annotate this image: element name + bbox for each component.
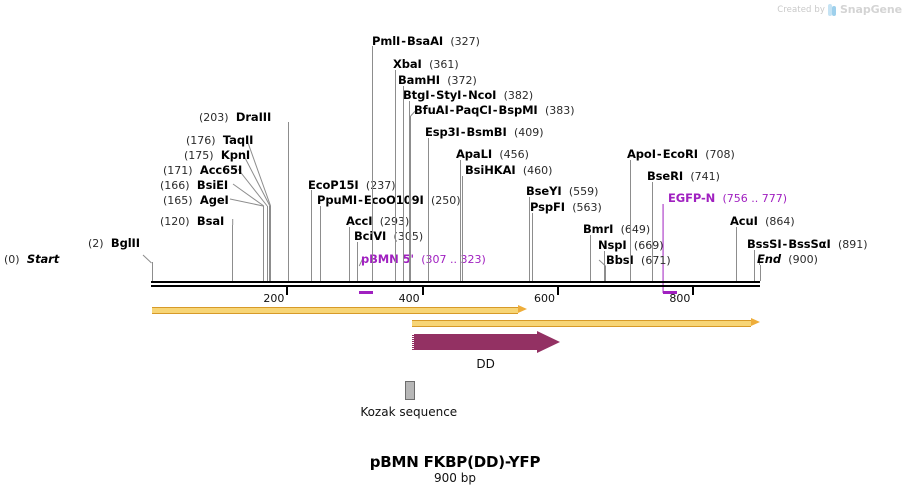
esp3i-bsmbi-label[interactable]: Esp3I-BsmBI (409) [425, 126, 544, 139]
site-position: (891) [838, 238, 868, 251]
dd-arrow-head [537, 331, 560, 353]
enzyme-name: TaqII [223, 133, 253, 147]
site-position: (669) [634, 239, 664, 252]
ruler-tick-label: 800 [669, 292, 692, 305]
dd-cds-arrow[interactable] [412, 331, 560, 353]
enzyme-name: DraIII [236, 110, 271, 124]
agei-label[interactable]: (165) AgeI [163, 194, 229, 207]
site-position: (176) [186, 134, 216, 147]
site-tick-mark [754, 250, 755, 281]
ruler-tick [692, 287, 694, 295]
site-position: (563) [572, 201, 602, 214]
site-position: (175) [184, 149, 214, 162]
taqii-label[interactable]: (176) TaqII [186, 134, 253, 147]
site-tick-mark [428, 138, 429, 281]
bbsi-label[interactable]: BbsI (671) [606, 254, 671, 267]
site-position: (165) [163, 194, 193, 207]
ruler-tick-label: 400 [399, 292, 422, 305]
leader-line-fan-2 [238, 169, 267, 206]
site-tick-mark [395, 70, 396, 281]
enzyme-separator: - [492, 103, 499, 117]
site-position: (171) [163, 164, 193, 177]
bsiei-label[interactable]: (166) BsiEI [160, 179, 228, 192]
site-tick-mark [267, 206, 268, 281]
acci-label[interactable]: AccI (293) [346, 215, 409, 228]
enzyme-name: BmrI [583, 222, 613, 236]
site-tick-mark [372, 46, 373, 281]
bseri-label[interactable]: BseRI (741) [647, 170, 720, 183]
end-label[interactable]: End (900) [757, 253, 818, 266]
enzyme-separator: - [357, 193, 364, 207]
primer-arrow-head [518, 305, 527, 313]
bfuai-paqci-bspmi-label[interactable]: BfuAI-PaqCI-BspMI (383) [414, 104, 575, 117]
site-tick-mark [311, 190, 312, 281]
site-tick-mark [462, 176, 463, 281]
acc65i-label[interactable]: (171) Acc65I [163, 164, 242, 177]
enzyme-name: BssSI [747, 237, 782, 251]
site-tick-mark [410, 116, 411, 281]
enzyme-name: BfuAI [414, 103, 449, 117]
enzyme-name: Acc65I [200, 163, 242, 177]
enzyme-name: BciVI [354, 229, 386, 243]
enzyme-name: EcoRI [663, 147, 698, 161]
site-position: (671) [641, 254, 671, 267]
bamhi-label[interactable]: BamHI (372) [398, 74, 477, 87]
enzyme-name: NspI [598, 238, 627, 252]
site-tick-mark [288, 122, 289, 281]
enzyme-separator: - [656, 147, 663, 161]
btgi-styi-ncoi-label[interactable]: BtgI-StyI-NcoI (382) [403, 89, 533, 102]
site-position: (409) [514, 126, 544, 139]
bseyi-label[interactable]: BseYI (559) [526, 185, 598, 198]
enzyme-name: BssSαI [788, 237, 830, 251]
site-position: (237) [366, 179, 396, 192]
primer-arrow-2[interactable] [412, 318, 760, 327]
enzyme-name: pBMN 5' [361, 252, 414, 266]
ruler-tick [557, 287, 559, 295]
site-position: (307 .. 323) [421, 253, 486, 266]
site-position: (361) [429, 58, 459, 71]
page-title: pBMN FKBP(DD)-YFP [255, 453, 655, 471]
sequence-ruler: 200400600800 [151, 287, 760, 305]
site-tick-mark [529, 197, 530, 281]
sequence-length-label: 900 bp [255, 471, 655, 485]
site-tick-mark [605, 266, 606, 281]
site-tick-mark [320, 206, 321, 281]
bsihkai-label[interactable]: BsiHKAI (460) [465, 164, 552, 177]
kozak-sequence-box[interactable] [405, 381, 415, 400]
site-tick-mark [652, 182, 653, 281]
acui-label[interactable]: AcuI (864) [730, 215, 795, 228]
xbai-label[interactable]: XbaI (361) [393, 58, 459, 71]
bmri-label[interactable]: BmrI (649) [583, 223, 650, 236]
enzyme-name: BtgI [403, 88, 429, 102]
site-position: (741) [690, 170, 720, 183]
ecop15i-label[interactable]: EcoP15I (237) [308, 179, 396, 192]
enzyme-name: AgeI [200, 193, 229, 207]
site-tick-mark [460, 160, 461, 281]
site-position: (460) [523, 164, 553, 177]
enzyme-name: PmlI [372, 34, 400, 48]
enzyme-name: StyI [436, 88, 461, 102]
site-position: (250) [431, 194, 461, 207]
site-position: (383) [545, 104, 575, 117]
enzyme-separator: - [460, 125, 467, 139]
site-position: (0) [4, 253, 20, 266]
enzyme-name: BsaAI [407, 34, 443, 48]
site-tick-mark [357, 242, 358, 281]
bsai-label[interactable]: (120) BsaI [160, 215, 224, 228]
enzyme-name: AcuI [730, 214, 758, 228]
site-position: (203) [199, 111, 229, 124]
draiii-label[interactable]: (203) DraIII [199, 111, 271, 124]
dd-arrow-shaft [412, 334, 537, 350]
enzyme-name: BsmBI [467, 125, 507, 139]
site-tick-mark [270, 206, 271, 281]
dd-cds-label: DD [412, 357, 560, 371]
enzyme-name: PpuMI [317, 193, 357, 207]
ruler-tick [286, 287, 288, 295]
site-tick-mark [349, 227, 350, 281]
enzyme-name: Start [27, 252, 59, 266]
enzyme-name: PspFI [530, 200, 565, 214]
pbmn5-feature-label[interactable]: pBMN 5' (307 .. 323) [361, 253, 486, 266]
site-position: (456) [499, 148, 529, 161]
ruler-tick-label: 200 [263, 292, 286, 305]
enzyme-name: BsiHKAI [465, 163, 516, 177]
enzyme-separator: - [400, 34, 407, 48]
enzyme-name: BamHI [398, 73, 440, 87]
enzyme-name: Esp3I [425, 125, 460, 139]
enzyme-name: BsiEI [197, 178, 228, 192]
apoi-ecori-label[interactable]: ApoI-EcoRI (708) [627, 148, 735, 161]
enzyme-name: KpnI [221, 148, 250, 162]
ruler-tick-label: 600 [534, 292, 557, 305]
pspfi-label[interactable]: PspFI (563) [530, 201, 602, 214]
site-tick-mark [736, 227, 737, 281]
site-position: (649) [621, 223, 651, 236]
site-position: (864) [765, 215, 795, 228]
backbone-line-top [151, 281, 760, 283]
enzyme-name: XbaI [393, 57, 422, 71]
site-tick-mark [760, 265, 761, 281]
enzyme-name: End [757, 252, 781, 266]
site-tick-mark [403, 86, 404, 281]
site-tick-mark [232, 225, 233, 281]
egfpn-feature-label[interactable]: EGFP-N (756 .. 777) [668, 192, 787, 205]
enzyme-name: ApoI [627, 147, 656, 161]
site-position: (756 .. 777) [723, 192, 788, 205]
site-position: (2) [88, 237, 104, 250]
site-position: (382) [504, 89, 534, 102]
site-position: (327) [450, 35, 480, 48]
bglii-label[interactable]: (2) BglII [88, 237, 140, 250]
kpni-label[interactable]: (175) KpnI [184, 149, 250, 162]
site-tick-mark [630, 160, 631, 281]
kozak-sequence-label: Kozak sequence [321, 405, 497, 419]
primer-arrow-shaft [412, 320, 751, 327]
site-tick-mark [263, 206, 264, 281]
start-label[interactable]: (0) Start [4, 253, 59, 266]
enzyme-name: EGFP-N [668, 191, 715, 205]
site-position: (708) [705, 148, 735, 161]
enzyme-name: BsaI [197, 214, 224, 228]
site-position: (166) [160, 179, 190, 192]
enzyme-name: BglII [111, 236, 140, 250]
pmli-bsaai-label[interactable]: PmlI-BsaAI (327) [372, 35, 480, 48]
primer-arrow-shaft [152, 307, 518, 314]
site-position: (120) [160, 215, 190, 228]
bsssi-bsssai-label[interactable]: BssSI-BssSαI (891) [747, 238, 868, 251]
enzyme-name: EcoP15I [308, 178, 359, 192]
enzyme-name: NcoI [468, 88, 496, 102]
enzyme-name: BseYI [526, 184, 562, 198]
apali-label[interactable]: ApaLI (456) [456, 148, 529, 161]
ppumi-ecoo109i-label[interactable]: PpuMI-EcoO109I (250) [317, 194, 461, 207]
site-position: (559) [569, 185, 599, 198]
enzyme-name: BspMI [499, 103, 538, 117]
primer-arrow-1[interactable] [152, 305, 527, 314]
enzyme-name: AccI [346, 214, 372, 228]
dd-arrow-tail [412, 334, 414, 350]
ruler-tick [422, 287, 424, 295]
site-position: (372) [447, 74, 477, 87]
site-tick-mark [532, 213, 533, 281]
enzyme-name: PaqCI [455, 103, 491, 117]
primer-arrow-head [751, 318, 760, 326]
site-tick-mark [152, 262, 153, 281]
enzyme-name: ApaLI [456, 147, 492, 161]
enzyme-name: BseRI [647, 169, 683, 183]
bcivi-label[interactable]: BciVI (305) [354, 230, 423, 243]
site-tick-mark [590, 235, 591, 281]
site-position: (900) [788, 253, 818, 266]
leader-line-start [143, 255, 152, 263]
